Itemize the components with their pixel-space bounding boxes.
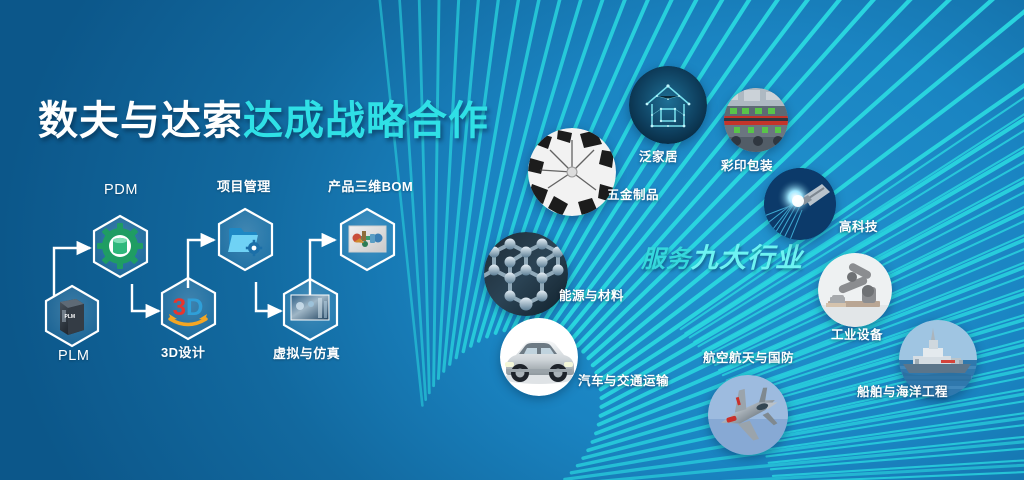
flow-node-pdm[interactable] <box>94 216 147 277</box>
title-company-part: 数夫与达索 <box>38 99 243 143</box>
industry-label-hightech: 高科技 <box>839 216 878 235</box>
ray-line <box>548 0 1024 330</box>
page-title: 数夫与达索达成战略合作 <box>38 88 489 146</box>
ray-line <box>556 0 1024 333</box>
server-tower-icon: PLM <box>60 299 84 335</box>
gear-database-icon <box>97 223 143 269</box>
flow-label-3d: 3D设计 <box>161 342 205 361</box>
ray-line <box>762 290 1024 444</box>
high-tech-welding-icon <box>764 168 836 240</box>
flow-node-bom[interactable] <box>341 209 394 270</box>
fighter-jet-icon <box>708 375 788 455</box>
robot-arm-icon <box>818 253 892 327</box>
industry-label-hardware: 五金制品 <box>607 184 659 203</box>
industry-label-equipment: 工业设备 <box>831 324 883 343</box>
svg-text:3D: 3D <box>173 294 204 321</box>
flow-label-project-management: 项目管理 <box>217 176 271 195</box>
banner-stage: 数夫与达索达成战略合作 <box>0 0 1024 480</box>
ray-line <box>434 0 450 386</box>
ray-line <box>777 468 1024 480</box>
ray-line <box>775 442 1024 480</box>
cad-assembly-icon <box>349 226 386 252</box>
ray-line <box>773 417 1024 476</box>
industry-label-automotive: 汽车与交通运输 <box>578 370 669 389</box>
simulation-photo-icon <box>291 295 329 320</box>
3d-logo-icon: 3D <box>169 294 207 325</box>
flow-label-plm: PLM <box>58 348 90 364</box>
section-title: 服务九大行业 <box>641 236 803 275</box>
industry-label-furniture: 泛家居 <box>639 146 678 165</box>
section-title-highlight: 九大行业 <box>691 243 803 273</box>
car-icon <box>500 318 578 396</box>
title-highlight-part: 达成战略合作 <box>243 99 489 143</box>
flow-svg: PLM <box>28 178 428 373</box>
ray-line <box>771 391 1024 469</box>
svg-text:PLM: PLM <box>65 314 76 320</box>
printing-press-icon <box>724 88 788 152</box>
flow-node-simulation[interactable] <box>284 279 337 340</box>
section-title-prefix: 服务 <box>641 246 691 273</box>
flow-label-simulation: 虚拟与仿真 <box>273 343 340 362</box>
flow-node-3d[interactable]: 3D <box>162 278 215 339</box>
industry-label-energy: 能源与材料 <box>559 285 624 304</box>
flow-label-bom: 产品三维BOM <box>328 176 413 195</box>
smart-home-icon <box>629 66 707 144</box>
plm-flow-diagram: PLM <box>28 178 428 373</box>
flow-node-project-management[interactable] <box>219 209 272 270</box>
industry-label-aerospace: 航空航天与国防 <box>703 347 794 366</box>
molecule-material-icon <box>484 232 568 316</box>
hardware-tools-icon <box>528 128 616 216</box>
ray-line <box>438 0 499 378</box>
industry-label-marine: 船舶与海洋工程 <box>857 381 948 400</box>
flow-label-pdm: PDM <box>104 182 138 198</box>
